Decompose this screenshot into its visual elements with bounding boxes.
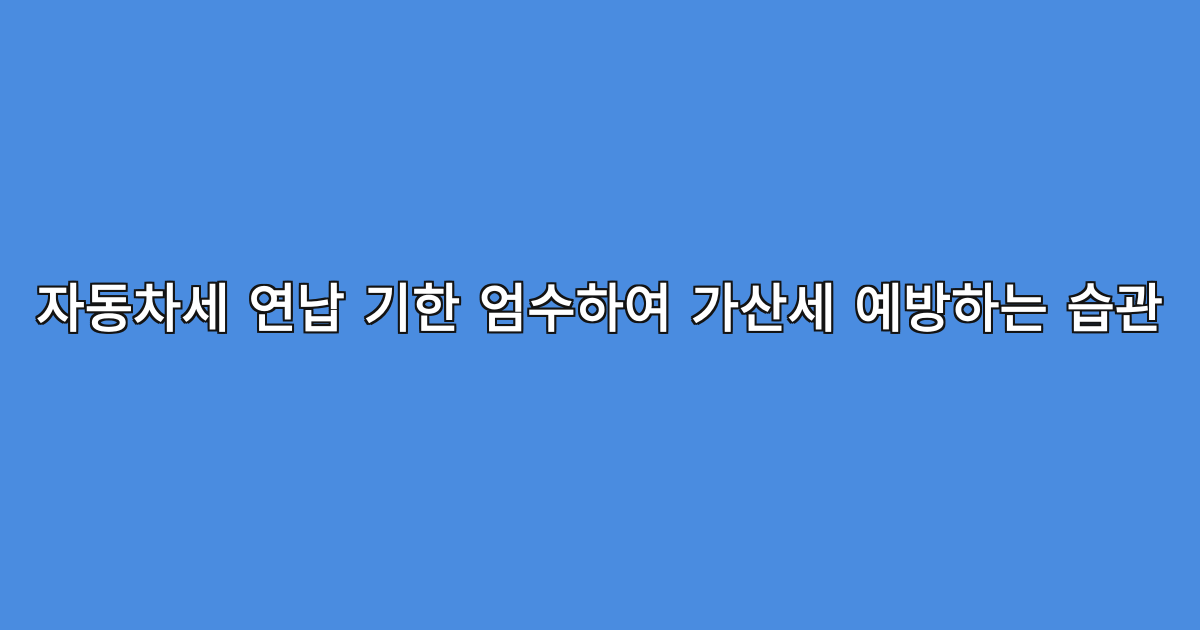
headline-block: 자동차세 연납 기한 엄수하여 가산세 예방하는 습관 [50, 281, 1150, 341]
social-share-card: 자동차세 연납 기한 엄수하여 가산세 예방하는 습관 [0, 0, 1200, 630]
page-title: 자동차세 연납 기한 엄수하여 가산세 예방하는 습관 [37, 281, 1164, 341]
